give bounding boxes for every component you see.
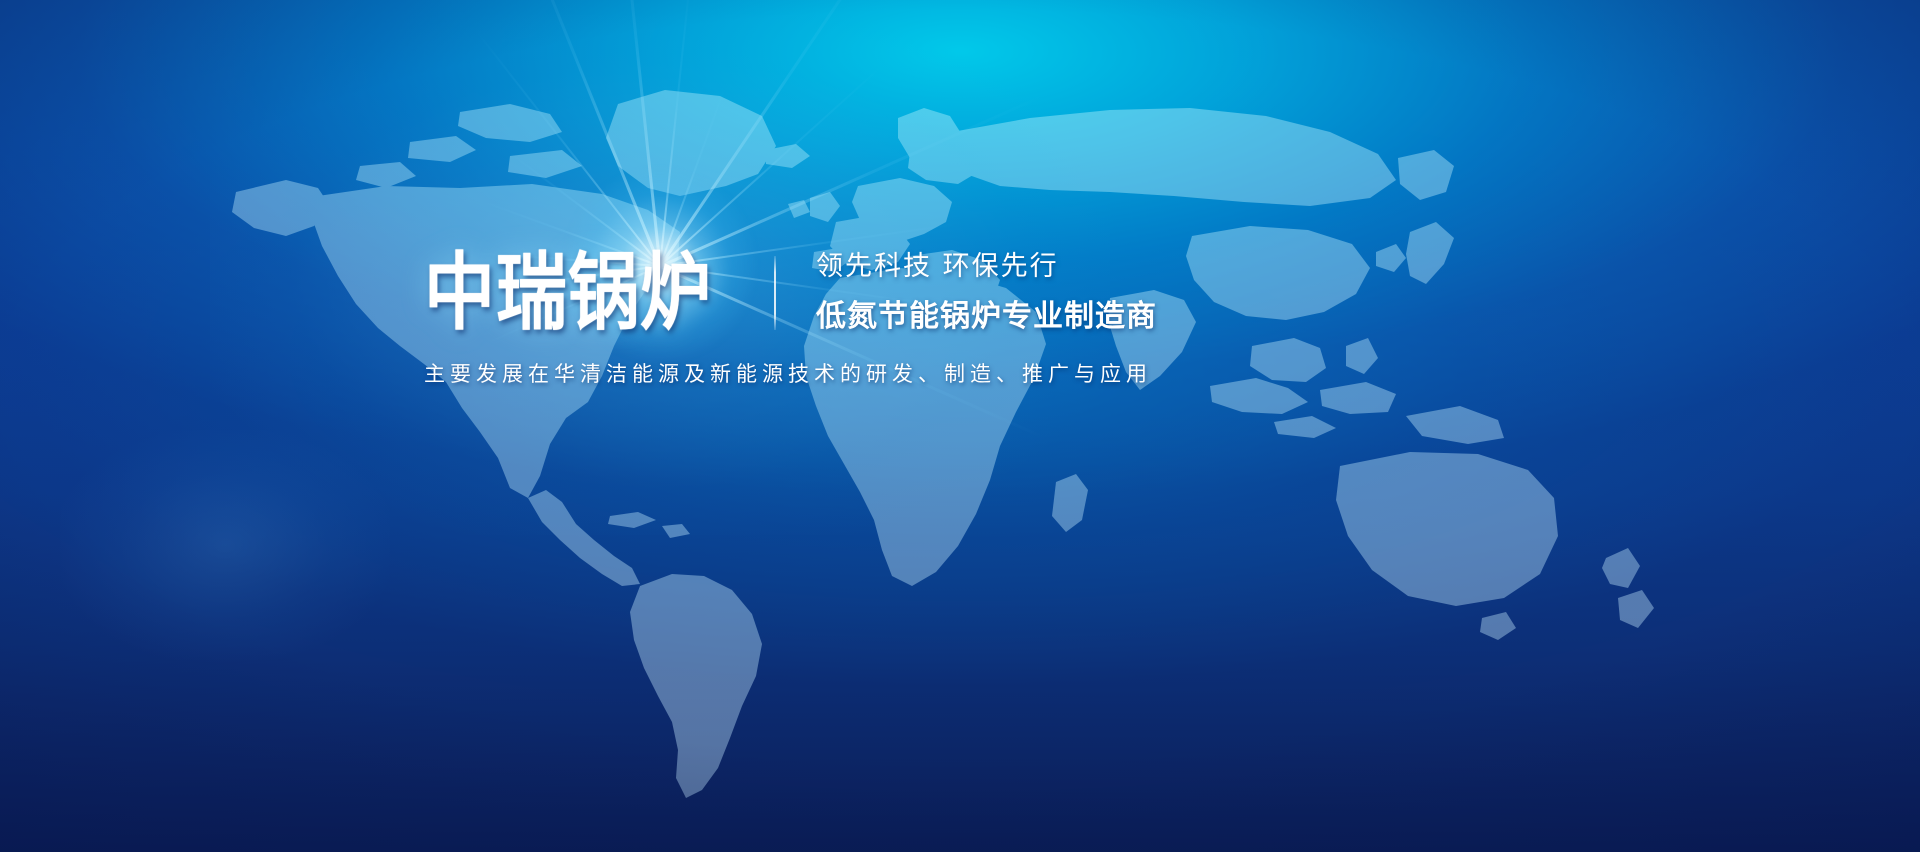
tagline-group: 领先科技 环保先行 低氮节能锅炉专业制造商 [816,250,1157,335]
hero-banner: 中瑞锅炉 领先科技 环保先行 低氮节能锅炉专业制造商 主要发展在华清洁能源及新能… [0,0,1920,852]
brand-lockup: 中瑞锅炉 领先科技 环保先行 低氮节能锅炉专业制造商 [424,250,1157,335]
tagline-primary: 领先科技 环保先行 [816,250,1157,284]
vertical-divider [774,256,776,330]
brand-name: 中瑞锅炉 [424,250,712,334]
world-map-silhouette [210,46,1710,806]
banner-subtitle: 主要发展在华清洁能源及新能源技术的研发、制造、推广与应用 [424,358,1136,388]
tagline-secondary: 低氮节能锅炉专业制造商 [816,298,1157,336]
